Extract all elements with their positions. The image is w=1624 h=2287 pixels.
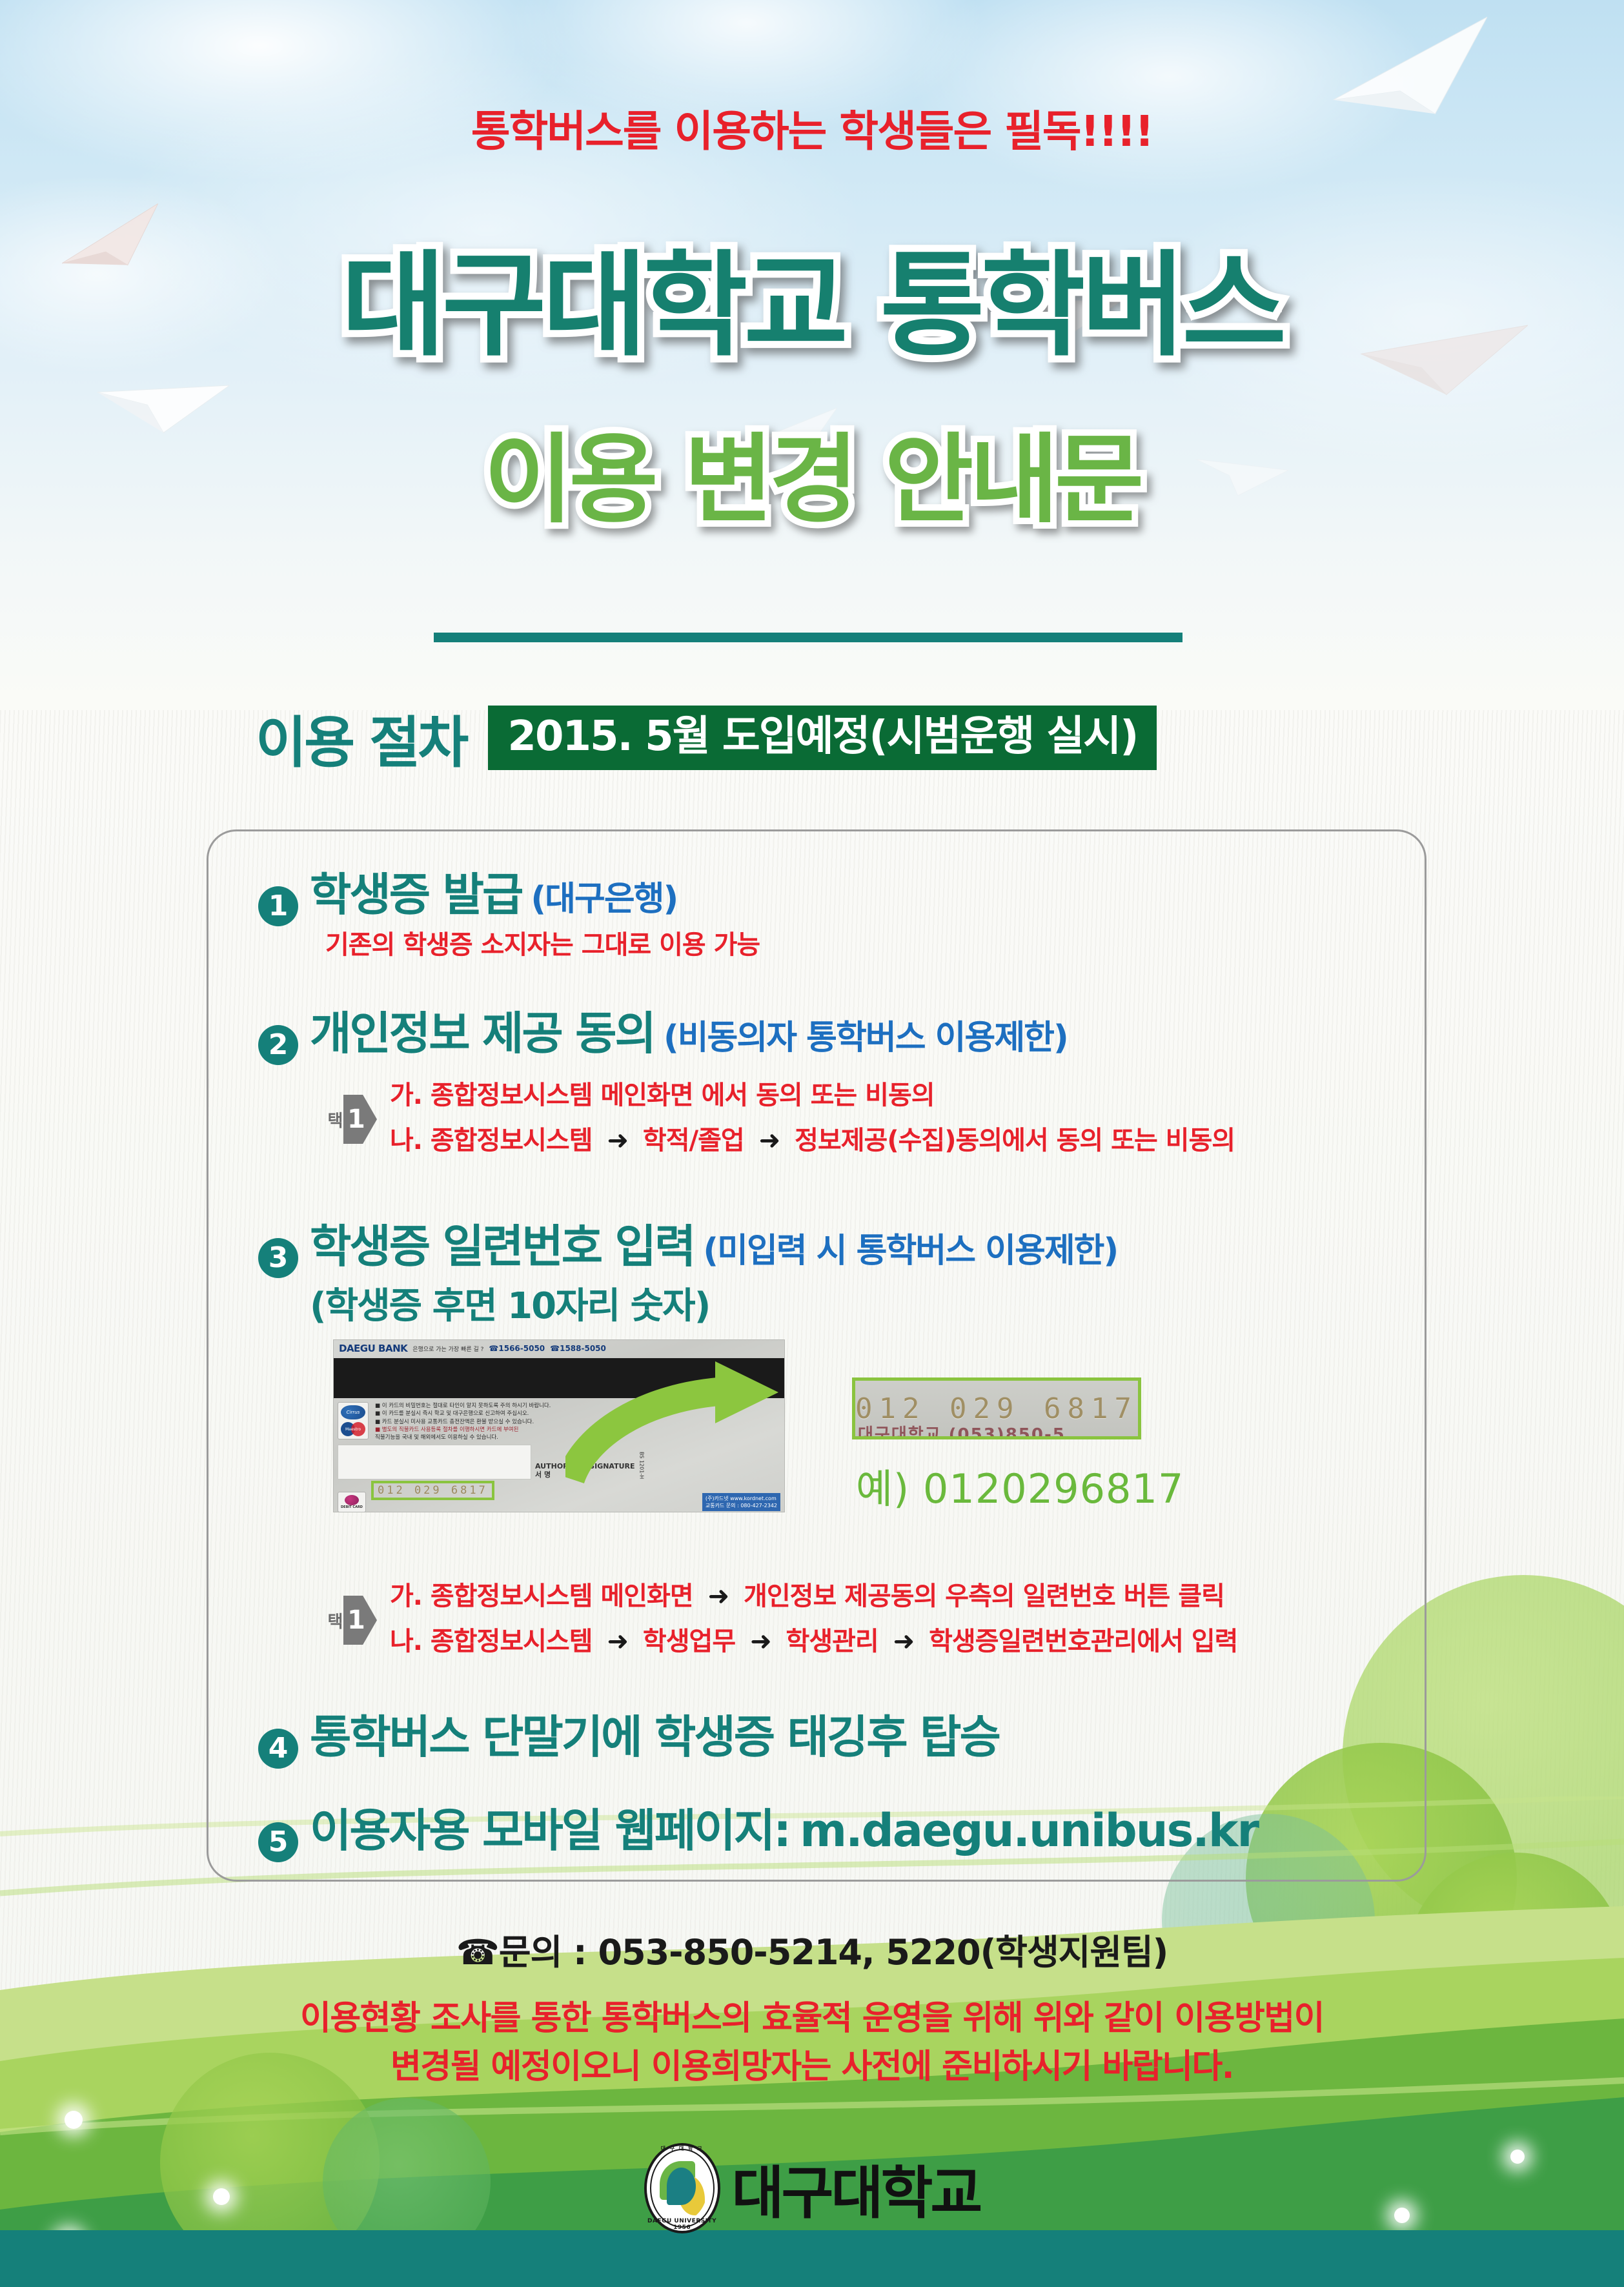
- seal-top-text: 대 구 대 학 교: [644, 2145, 720, 2152]
- footer-color-bar: [0, 2230, 1624, 2287]
- card-bank-name: DAEGU BANK: [339, 1343, 407, 1354]
- step-4: 4 통학버스 단말기에 학생증 태깅후 탑승: [258, 1701, 999, 1766]
- pick-arrow-icon: 1: [343, 1095, 377, 1144]
- card-network-logos: Cirrus Maestro: [338, 1402, 371, 1442]
- closing-message: 이용현황 조사를 통한 통학버스의 효율적 운영을 위해 위와 같이 이용방법이…: [0, 1995, 1624, 2092]
- mobile-web-url[interactable]: m.daegu.unibus.kr: [800, 1804, 1258, 1857]
- contact-line: ☎문의 : 053-850-5214, 5220(학생지원팀): [0, 1924, 1624, 1975]
- step-number-badge: 1: [258, 886, 298, 926]
- step-title: 학생증 발급: [310, 859, 522, 924]
- pick-number: 1: [347, 1607, 365, 1633]
- pick-one-group: 택 1 가. 종합정보시스템 메인화면 ➜ 개인정보 제공동의 우측의 일련번호…: [325, 1575, 1237, 1658]
- pick-line-seg: 정보제공(수집)동의에서 동의 또는 비동의: [795, 1126, 1235, 1155]
- zoomed-serial-box: 012 029 6817 대구대학교 (053)850-5: [852, 1377, 1141, 1439]
- step-number-badge: 3: [258, 1238, 298, 1278]
- pick-line-seg: 나. 종합정보시스템: [390, 1627, 593, 1656]
- step-paren: (대구은행): [531, 871, 677, 920]
- title-divider: [434, 633, 1182, 642]
- pick-number: 1: [347, 1106, 365, 1132]
- step-title: 개인정보 제공 동의: [310, 997, 655, 1062]
- step-title: 학생증 일련번호 입력: [310, 1210, 694, 1276]
- poster-title-line2: 이용 변경 안내문: [0, 401, 1624, 542]
- zoomed-ghost-text: 대구대학교 (053)850-5: [858, 1421, 1066, 1439]
- step-number-badge: 4: [258, 1729, 298, 1769]
- pick-arrow-icon: 1: [343, 1596, 377, 1645]
- pick-line-seg: 학생관리: [786, 1627, 878, 1656]
- signature-strip: [338, 1445, 531, 1479]
- serial-example-text: 예) 0120296817: [856, 1456, 1184, 1514]
- card-bank-tagline: 은행으로 가는 가장 빠른 길 ?: [412, 1345, 483, 1353]
- step-paren: (비동의자 통학버스 이용제한): [664, 1010, 1068, 1059]
- poster-canvas: 통학버스를 이용하는 학생들은 필독!!!! 대구대학교 통학버스 이용 변경 …: [0, 0, 1624, 2287]
- pick-line-seg: 학적/졸업: [643, 1126, 744, 1155]
- step-number-badge: 2: [258, 1025, 298, 1065]
- step-3: 3 학생증 일련번호 입력 (미입력 시 통학버스 이용제한) (학생증 후면 …: [258, 1210, 1117, 1329]
- pick-line: 나. 종합정보시스템 ➜ 학적/졸업 ➜ 정보제공(수집)동의에서 동의 또는 …: [390, 1119, 1235, 1157]
- seal-bottom-text: DAEGU UNIVERSITY 1956: [644, 2218, 720, 2231]
- card-phone-1: ☎1566-5050: [489, 1344, 545, 1353]
- student-card-illustration: DAEGU BANK 은행으로 가는 가장 빠른 길 ? ☎1566-5050 …: [333, 1339, 824, 1533]
- pick-line-seg: 가. 종합정보시스템 메인화면: [390, 1581, 693, 1611]
- step-paren: (미입력 시 통학버스 이용제한): [703, 1223, 1117, 1272]
- maestro-icon: Maestro: [341, 1422, 365, 1436]
- step-title: 이용자용 모바일 웹페이지:: [310, 1794, 789, 1860]
- university-seal-icon: 대 구 대 학 교 DAEGU UNIVERSITY 1956: [644, 2143, 720, 2233]
- card-univ-phone: 대구대학교 (053)850-5114: [333, 1510, 494, 1512]
- pick-line: 나. 종합정보시스템 ➜ 학생업무 ➜ 학생관리 ➜ 학생증일련번호관리에서 입…: [390, 1620, 1237, 1658]
- card-serial-number: 012 029 6817: [371, 1481, 494, 1500]
- card-serial-block: 012 029 6817 대구대학교 (053)850-5114: [370, 1481, 494, 1512]
- section-badge: 2015. 5월 도입예정(시범운행 실시): [488, 706, 1157, 770]
- closing-line-1: 이용현황 조사를 통한 통학버스의 효율적 운영을 위해 위와 같이 이용방법이: [0, 1995, 1624, 2043]
- step-5: 5 이용자용 모바일 웹페이지: m.daegu.unibus.kr: [258, 1794, 1258, 1860]
- card-header-strip: DAEGU BANK 은행으로 가는 가장 빠른 길 ? ☎1566-5050 …: [334, 1340, 784, 1357]
- pick-one-badge: 택 1: [325, 1596, 377, 1645]
- pick-label: 택: [325, 1612, 342, 1629]
- pick-line: 가. 종합정보시스템 메인화면 에서 동의 또는 비동의: [390, 1074, 1235, 1112]
- closing-line-2: 변경될 예정이오니 이용희망자는 사전에 준비하시기 바랍니다.: [0, 2043, 1624, 2091]
- pick-line-seg: 학생증일련번호관리에서 입력: [929, 1627, 1237, 1656]
- poster-title-line1: 대구대학교 통학버스: [0, 213, 1624, 378]
- green-curved-arrow-icon: [565, 1359, 843, 1490]
- section-header: 이용 절차 2015. 5월 도입예정(시범운행 실시): [256, 697, 1157, 778]
- arrow-right-icon: ➜: [600, 1627, 634, 1656]
- pick-line: 가. 종합정보시스템 메인화면 ➜ 개인정보 제공동의 우측의 일련번호 버튼 …: [390, 1575, 1237, 1612]
- step-subtitle: (학생증 후면 10자리 숫자): [310, 1277, 1117, 1329]
- step-1: 1 학생증 발급 (대구은행) 기존의 학생증 소지자는 그대로 이용 가능: [258, 859, 760, 961]
- pick-line-seg: 개인정보 제공동의 우측의 일련번호 버튼 클릭: [744, 1581, 1224, 1611]
- kordnet-line: (주)카드넷 www.kordnet.com: [705, 1495, 777, 1502]
- pick-line-text: 가. 종합정보시스템 메인화면 에서 동의 또는 비동의: [390, 1081, 935, 1110]
- cirrus-icon: Cirrus: [341, 1405, 365, 1419]
- kordnet-line: 교통카드 문의 : 080-427-2342: [705, 1502, 777, 1509]
- debit-label: DEBIT CARD: [341, 1505, 363, 1509]
- section-title: 이용 절차: [256, 697, 466, 778]
- zoomed-serial-number: 012 029 6817: [855, 1392, 1138, 1425]
- pick-one-badge: 택 1: [325, 1095, 377, 1144]
- university-logo-bar: 대 구 대 학 교 DAEGU UNIVERSITY 1956 대구대학교: [0, 2143, 1624, 2233]
- kordnet-badge: (주)카드넷 www.kordnet.com 교통카드 문의 : 080-427…: [702, 1493, 780, 1511]
- pick-line-seg: 학생업무: [643, 1627, 735, 1656]
- university-name: 대구대학교: [732, 2148, 980, 2230]
- decorative-dot: [65, 2111, 83, 2129]
- step-title: 통학버스 단말기에 학생증 태깅후 탑승: [310, 1701, 999, 1766]
- maestro-label: Maestro: [341, 1422, 365, 1436]
- debit-card-icon: DEBIT CARD: [338, 1492, 366, 1512]
- step-2: 2 개인정보 제공 동의 (비동의자 통학버스 이용제한) 택 1 가. 종합정…: [258, 997, 1235, 1157]
- cirrus-maestro-logo: Cirrus Maestro: [338, 1402, 369, 1439]
- pick-label: 택: [325, 1112, 342, 1128]
- arrow-right-icon: ➜: [702, 1581, 736, 1611]
- step-note: 기존의 학생증 소지자는 그대로 이용 가능: [325, 924, 760, 961]
- pick-line-seg: 나. 종합정보시스템: [390, 1126, 593, 1155]
- card-phone-2: ☎1588-5050: [550, 1344, 606, 1353]
- step-number-badge: 5: [258, 1822, 298, 1862]
- pick-one-group: 택 1 가. 종합정보시스템 메인화면 에서 동의 또는 비동의 나. 종합정보…: [325, 1074, 1235, 1157]
- kicker-text: 통학버스를 이용하는 학생들은 필독!!!!: [0, 97, 1624, 159]
- arrow-right-icon: ➜: [744, 1627, 778, 1656]
- arrow-right-icon: ➜: [887, 1627, 921, 1656]
- arrow-right-icon: ➜: [600, 1126, 634, 1155]
- arrow-right-icon: ➜: [753, 1126, 787, 1155]
